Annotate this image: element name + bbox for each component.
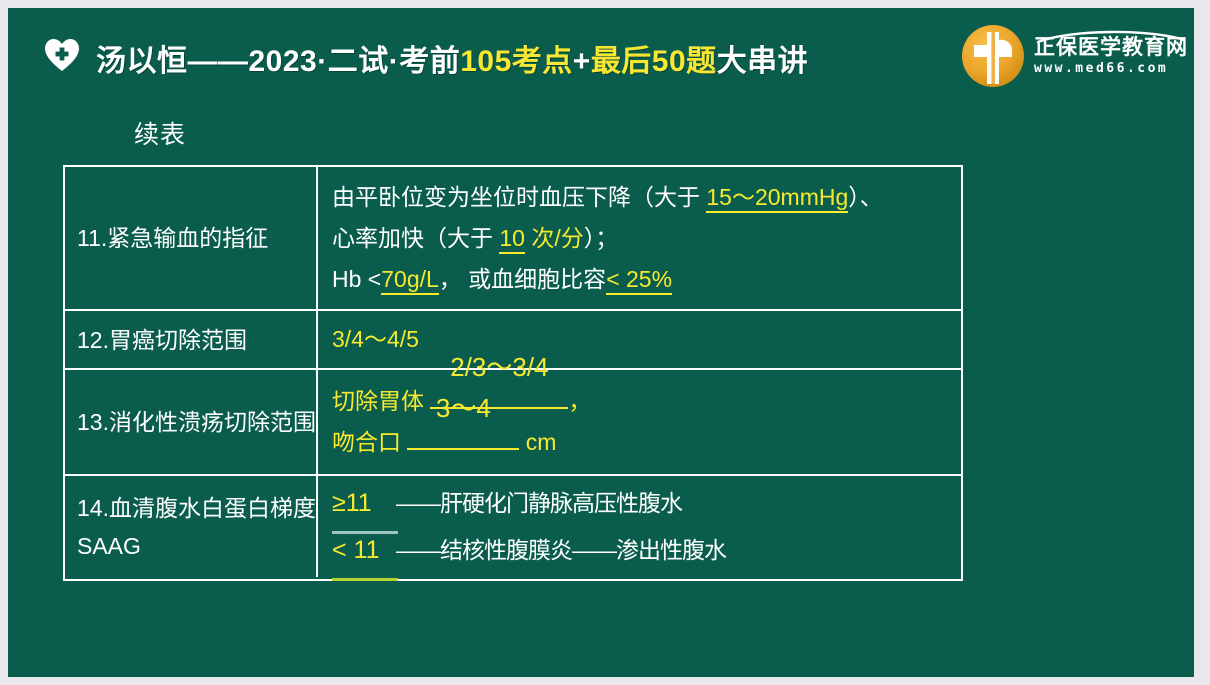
content-table: 11.紧急输血的指征 由平卧位变为坐位时血压下降（大于 15～20mmHg）、 … <box>63 165 963 581</box>
table-row: 11.紧急输血的指征 由平卧位变为坐位时血压下降（大于 15～20mmHg）、 … <box>65 167 961 311</box>
slide-header: 汤以恒——2023·二试·考前105考点+最后50题大串讲 <box>8 8 1194 100</box>
title-part-0: 汤以恒——2023·二试·考前 <box>96 45 460 78</box>
threshold-text: ≥11 <box>332 489 372 517</box>
title-part-4: 大串讲 <box>717 45 809 78</box>
title-part-1: 105考点 <box>460 45 573 78</box>
table-row: 13.消化性溃疡切除范围 切除胃体 2/3～3/4 ， 吻合口 3～4 <box>65 370 961 476</box>
table-row-body: 由平卧位变为坐位时血压下降（大于 15～20mmHg）、 心率加快（大于 10 … <box>318 167 961 309</box>
text-segment: ）； <box>584 225 619 251</box>
text-segment: ——肝硬化门静脉高压性腹水 <box>396 490 682 516</box>
threshold-value: ≥11 <box>332 480 396 527</box>
text-segment: 心率加快（大于 <box>332 225 499 251</box>
table-row-label: 14.血清腹水白蛋白梯度SAAG <box>65 476 318 577</box>
text-segment: 吻合口 <box>332 429 401 455</box>
highlight-value: 次/分 <box>525 225 584 251</box>
text-segment: cm <box>526 429 557 455</box>
table-cell-line: 由平卧位变为坐位时血压下降（大于 15～20mmHg）、 <box>332 177 961 218</box>
logo-url: www.med66.com <box>1034 60 1188 78</box>
text-segment: ， <box>439 266 462 292</box>
table-cell-line: 心率加快（大于 10 次/分）； <box>332 218 961 259</box>
table-cell-line: < 11 ——结核性腹膜炎——渗出性腹水 <box>332 527 961 574</box>
table-row-label: 11.紧急输血的指征 <box>65 167 318 309</box>
table-row-body: 3/4～4/5 <box>318 311 961 368</box>
swoosh-icon <box>1036 30 1186 44</box>
highlight-value: 10 <box>499 225 525 254</box>
blank-rule <box>407 430 519 450</box>
text-segment: Hb < <box>332 266 381 292</box>
table-row-label: 13.消化性溃疡切除范围 <box>65 370 318 474</box>
blank-annotation: 2/3～3/4 <box>450 354 548 380</box>
text-segment: ）、 <box>848 184 883 210</box>
slide-canvas: 汤以恒——2023·二试·考前105考点+最后50题大串讲 <box>8 8 1194 677</box>
highlight-value: 70g/L <box>381 266 439 295</box>
table-row-body: 切除胃体 2/3～3/4 ， 吻合口 3～4 cm <box>318 370 961 474</box>
highlight-value: 15～20mmHg <box>706 184 848 213</box>
table-row-label-text: 13.消化性溃疡切除范围 <box>77 403 316 441</box>
text-segment: 切除胃体 <box>332 388 424 414</box>
highlight-value: < 25% <box>606 266 672 295</box>
table-row-label-text: 14.血清腹水白蛋白梯度SAAG <box>77 489 316 565</box>
text-segment: ——结核性腹膜炎——渗出性腹水 <box>396 537 726 563</box>
blank-annotation: 3～4 <box>436 395 491 421</box>
text-segment: ， <box>568 388 591 414</box>
page-title: 汤以恒——2023·二试·考前105考点+最后50题大串讲 <box>96 36 808 80</box>
title-part-3: 最后50题 <box>591 45 717 78</box>
threshold-rule <box>332 578 398 581</box>
fill-in-blank: 3～4 <box>407 422 519 463</box>
threshold-value: < 11 <box>332 527 396 574</box>
highlight-value: 3/4～4/5 <box>332 326 419 352</box>
table-cell-line: 3/4～4/5 <box>332 319 961 360</box>
table-cell-line: ≥11 ——肝硬化门静脉高压性腹水 <box>332 480 961 527</box>
cross-in-circle-icon <box>960 23 1026 89</box>
title-part-2: + <box>573 45 591 78</box>
heart-cross-icon <box>44 38 80 72</box>
table-cell-line: 吻合口 3～4 cm <box>332 422 961 463</box>
brand-logo: 正保医学教育网 www.med66.com <box>960 20 1182 92</box>
text-segment: 由平卧位变为坐位时血压下降（大于 <box>332 184 706 210</box>
text-segment: 或血细胞比容 <box>462 266 606 292</box>
table-cell-line: 切除胃体 2/3～3/4 ， <box>332 381 961 422</box>
table-row-label: 12.胃癌切除范围 <box>65 311 318 368</box>
threshold-text: < 11 <box>332 536 380 564</box>
logo-text-block: 正保医学教育网 www.med66.com <box>1034 34 1188 78</box>
table-row: 14.血清腹水白蛋白梯度SAAG ≥11 ——肝硬化门静脉高压性腹水 < 11 … <box>65 476 961 577</box>
table-row-body: ≥11 ——肝硬化门静脉高压性腹水 < 11 ——结核性腹膜炎——渗出性腹水 <box>318 476 961 577</box>
continued-table-label: 续表 <box>134 115 186 151</box>
table-cell-line: Hb <70g/L， 或血细胞比容< 25% <box>332 259 961 300</box>
